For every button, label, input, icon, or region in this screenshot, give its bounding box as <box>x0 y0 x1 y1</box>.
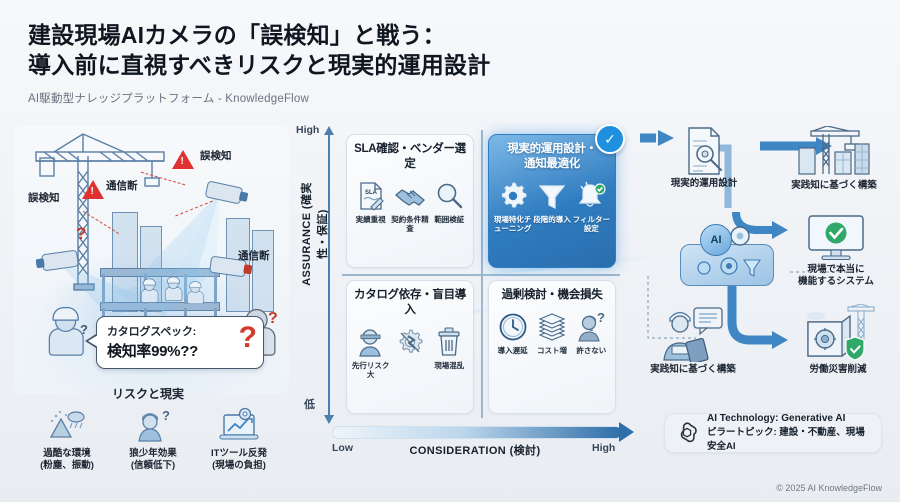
quadrant-item: 範囲検証 <box>430 179 469 234</box>
callout-line1: カタログスペック: <box>107 323 253 339</box>
risk-label-line1: ITツール反発 <box>200 448 278 460</box>
gear-icon <box>493 179 532 213</box>
ai-chip-label: AI <box>700 224 732 256</box>
flow-node-ai-hub: AI <box>680 222 772 284</box>
flow-node-label-line2: 機能するシステム <box>786 276 886 288</box>
catalog-spec-callout: カタログスペック: 検知率99%?? ? <box>96 316 264 369</box>
quadrant-title: カタログ依存・盲目導入 <box>351 288 469 318</box>
quadrant-item: 現場混乱 <box>430 325 469 380</box>
quadrant-realistic-ops-design[interactable]: ✓ 現実的運用設計・ 通知最適化 現場特化チューニング <box>488 134 616 268</box>
risk-items-list: 過酷な環境 (粉塵、振動) ? 狼少年効果 (信頼低下) <box>28 404 278 473</box>
quadrant-item-label: コスト増 <box>532 346 571 355</box>
quadrant-item: コスト増 <box>532 310 571 355</box>
worker-figure <box>187 283 202 303</box>
page-header: 建設現場AIカメラの「誤検知」と戦う： 導入前に直視すべきリスクと現実的運用設計… <box>28 20 648 106</box>
magnifier-icon <box>430 179 469 213</box>
quadrant-items: 導入遅延 <box>493 310 611 355</box>
it-tool-laptop-icon <box>200 404 278 446</box>
quadrant-item: 段階的導入 <box>532 179 571 234</box>
svg-text:?: ? <box>162 408 170 423</box>
flow-node-safety: 労働災害削減 <box>790 304 886 376</box>
x-axis-low-label: Low <box>332 442 353 454</box>
selected-check-icon: ✓ <box>595 124 625 154</box>
safe-shield-crane-icon <box>790 304 886 362</box>
flow-node-label: 実践知に基づく構築 <box>782 180 886 192</box>
quadrant-over-consideration[interactable]: 過剰検討・機会損失 導入遅延 <box>488 280 616 414</box>
x-axis-title: CONSIDERATION (検討) <box>360 442 590 458</box>
quadrant-item: 先行リスク大 <box>351 325 390 380</box>
quadrant-items: 先行リスク大 <box>351 325 469 380</box>
quadrant-item-label: 現場混乱 <box>430 361 469 370</box>
label-misdetection-left: 誤検知 <box>28 190 60 205</box>
quadrant-items: SLA 実績重視 <box>351 179 469 234</box>
assurance-consideration-matrix: High 低 ASSURANCE (確実性・保証) Low High CONSI… <box>300 126 630 456</box>
trash-bin-icon <box>430 325 469 359</box>
quadrant-title: SLA確認・ベンダー選定 <box>351 142 469 172</box>
flow-node-design: 現実的運用設計 <box>662 126 746 190</box>
openai-logo-icon <box>675 421 699 445</box>
ai-badge-text: AI Technology: Generative AI ピラートピック: 建設… <box>707 412 871 454</box>
worker-tablet-icon <box>638 304 748 362</box>
quadrant-item: ? 許さない <box>572 310 611 355</box>
risk-label-line2: (現場の負担) <box>200 460 278 472</box>
page-subtitle: AI駆動型ナレッジプラットフォーム - KnowledgeFlow <box>28 90 648 106</box>
funnel-icon <box>532 179 571 213</box>
risk-item-it-tool-resistance: ITツール反発 (現場の負担) <box>200 404 278 473</box>
quadrant-title-line2: 通知最適化 <box>493 157 611 172</box>
quadrant-item <box>390 325 429 380</box>
worker-figure <box>141 280 157 301</box>
question-mark-right: ? <box>268 310 278 328</box>
poster-canvas: 建設現場AIカメラの「誤検知」と戦う： 導入前に直視すべきリスクと現実的運用設計… <box>0 0 900 502</box>
handshake-icon <box>390 179 429 213</box>
paper-stack-icon <box>532 310 571 344</box>
label-comm-loss-right: 通信断 <box>238 248 270 263</box>
quadrant-catalog-dependency[interactable]: カタログ依存・盲目導入 先行リスク大 <box>346 280 474 414</box>
risk-label-line2: (信頼低下) <box>114 460 192 472</box>
flow-node-label: 労働災害削減 <box>790 364 886 376</box>
question-mark: ? <box>76 224 86 244</box>
dust-vibration-icon <box>28 404 106 446</box>
quadrant-item: フィルター設定 <box>572 179 611 234</box>
ai-badge-line2: ピラートピック: 建設・不動産、現場安全AI <box>707 426 871 454</box>
monitor-check-icon <box>786 214 886 262</box>
flow-node-field-worker: 実践知に基づく構築 <box>638 304 748 376</box>
clock-icon <box>493 310 532 344</box>
callout-line2: 検知率99%?? <box>107 340 253 361</box>
quadrant-item: 契約条件精査 <box>390 179 429 234</box>
quadrant-item: 導入遅延 <box>493 310 532 355</box>
x-axis-high-label: High <box>592 442 615 454</box>
quadrant-item-label: 許さない <box>572 346 611 355</box>
bell-check-icon <box>572 179 611 213</box>
quadrant-item-label: 先行リスク大 <box>351 361 390 380</box>
risk-label-line1: 狼少年効果 <box>114 448 192 460</box>
flow-node-label: 実践知に基づく構築 <box>638 364 748 376</box>
quadrant-item-label: 実績重視 <box>351 215 390 224</box>
page-title-line2: 導入前に直視すべきリスクと現実的運用設計 <box>28 50 648 80</box>
sla-document-icon: SLA <box>351 179 390 213</box>
callout-question-mark: ? <box>239 323 257 353</box>
crying-wolf-icon: ? <box>114 404 192 446</box>
svg-text:?: ? <box>597 312 605 325</box>
risk-item-crying-wolf: ? 狼少年効果 (信頼低下) <box>114 404 192 473</box>
y-axis-title: ASSURANCE (確実性・保証) <box>298 174 330 294</box>
flow-node-working-system: 現場で本当に 機能するシステム <box>786 214 886 289</box>
broken-gear-icon <box>390 325 429 359</box>
x-axis <box>332 426 622 439</box>
risk-label-line1: 過酷な環境 <box>28 448 106 460</box>
warning-triangle-icon <box>82 180 104 199</box>
svg-text:SLA: SLA <box>365 190 378 196</box>
quadrant-item-label: 段階的導入 <box>532 215 571 224</box>
implementation-flow-diagram: 現実的運用設計 <box>640 126 892 398</box>
flow-node-label-line1: 現場で本当に <box>786 264 886 276</box>
worker-avatar-left <box>49 311 82 354</box>
copyright-text: © 2025 AI KnowledgeFlow <box>776 483 882 493</box>
y-axis-high-label: High <box>296 124 319 136</box>
quadrant-item: 現場特化チューニング <box>493 179 532 234</box>
quadrant-sla-vendor[interactable]: SLA確認・ベンダー選定 SLA 実績重視 <box>346 134 474 268</box>
label-misdetection-top: 誤検知 <box>200 148 232 163</box>
quadrant-item-label: 範囲検証 <box>430 215 469 224</box>
matrix-grid: SLA確認・ベンダー選定 SLA 実績重視 <box>342 130 620 418</box>
document-gear-magnifier-icon <box>662 126 746 176</box>
risk-reality-caption: リスクと現実 <box>88 385 208 402</box>
quadrant-item: SLA 実績重視 <box>351 179 390 234</box>
risk-label-line2: (粉塵、振動) <box>28 460 106 472</box>
ai-badge-line1: AI Technology: Generative AI <box>707 412 871 427</box>
flow-node-construction: 実践知に基づく構築 <box>782 126 886 192</box>
blindfolded-person-icon <box>351 325 390 359</box>
risk-item-harsh-environment: 過酷な環境 (粉塵、振動) <box>28 404 106 473</box>
label-comm-loss-left: 通信断 <box>106 178 138 193</box>
thinking-person-icon: ? <box>572 310 611 344</box>
crane-buildings-icon <box>782 126 886 178</box>
quadrant-item-label: 現場特化チューニング <box>493 215 532 234</box>
worker-figure <box>165 278 181 299</box>
quadrant-item-label: 導入遅延 <box>493 346 532 355</box>
ai-technology-badge: AI Technology: Generative AI ピラートピック: 建設… <box>664 413 882 453</box>
y-axis-low-label: 低 <box>304 396 315 412</box>
quadrant-title-line1: 現実的運用設計・ <box>493 142 611 157</box>
quadrant-item-label: 契約条件精査 <box>390 215 429 234</box>
quadrant-item-label: フィルター設定 <box>572 215 611 234</box>
quadrant-title: 過剰検討・機会損失 <box>493 288 611 303</box>
page-title-line1: 建設現場AIカメラの「誤検知」と戦う： <box>28 20 648 50</box>
flow-node-label: 現実的運用設計 <box>662 178 746 190</box>
warning-triangle-icon <box>172 150 194 169</box>
quadrant-items: 現場特化チューニング 段階的導入 <box>493 179 611 234</box>
